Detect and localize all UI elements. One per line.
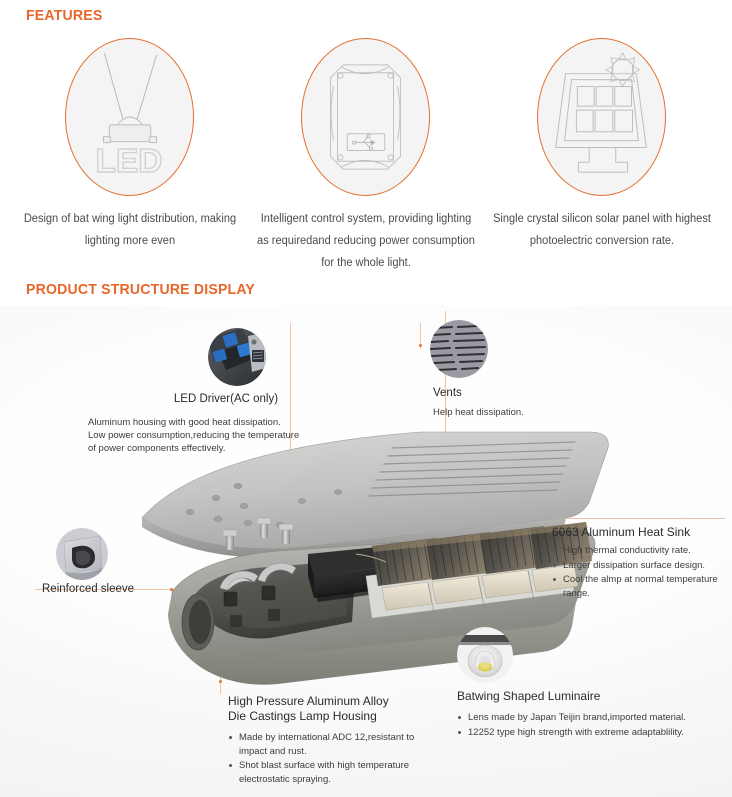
vents-photo (430, 320, 488, 378)
marker-dot-vents (419, 344, 422, 347)
vents-line-1: Help heat dissipation. (433, 406, 603, 419)
led-driver-line-2: Low power consumption,reducing the tempe… (88, 429, 303, 442)
heat-sink-bullet-2: Larger dissipation surface design. (552, 559, 727, 573)
controller-usb-icon (301, 38, 430, 196)
callout-heat-sink: 6063 Aluminum Heat Sink High thermal con… (552, 525, 727, 601)
led-driver-line-3: of power components effectively. (88, 442, 303, 455)
callout-bullets-lamp-housing: Made by international ADC 12,resistant t… (228, 731, 428, 786)
led-driver-line-1: Aluminum housing with good heat dissipat… (88, 416, 303, 429)
lamp-housing-bullet-1: Made by international ADC 12,resistant t… (228, 731, 428, 758)
product-structure-heading: PRODUCT STRUCTURE DISPLAY (26, 281, 255, 298)
luminaire-photo (457, 627, 513, 683)
heat-sink-bullet-3: Cool the almp at normal temperature rang… (552, 573, 727, 600)
led-bulb-icon: LED (65, 38, 194, 196)
heat-sink-bullet-1: High thermal conductivity rate. (552, 544, 727, 558)
features-row: LED Design of bat wing light distributio… (0, 36, 732, 266)
callout-lamp-housing: High Pressure Aluminum Alloy Die Casting… (228, 694, 428, 787)
exploded-streetlight-render (120, 426, 620, 726)
callout-title-heat-sink: 6063 Aluminum Heat Sink (552, 525, 727, 540)
callout-title-reinforced-sleeve: Reinforced sleeve (42, 582, 134, 597)
features-heading: FEATURES (26, 7, 102, 24)
callout-title-led-driver: LED Driver(AC only) (146, 392, 306, 407)
callout-title-lamp-housing-line1: High Pressure Aluminum Alloy (228, 694, 428, 709)
feature-caption-led: Design of bat wing light distribution, m… (19, 208, 242, 252)
callout-title-lamp-housing-line2: Die Castings Lamp Housing (228, 709, 428, 724)
feature-item-led: LED Design of bat wing light distributio… (8, 36, 252, 266)
callout-title-luminaire: Batwing Shaped Luminaire (457, 689, 600, 704)
luminaire-bullet-1: Lens made by Japan Teijin brand,imported… (457, 711, 702, 725)
svg-text:LED: LED (96, 143, 163, 180)
product-structure-panel: LED Driver(AC only) Aluminum housing wit… (0, 306, 732, 797)
feature-caption-controller: Intelligent control system, providing li… (255, 208, 478, 274)
lamp-housing-bullet-2: Shot blast surface with high temperature… (228, 759, 428, 786)
callout-title-vents: Vents (433, 386, 462, 401)
led-driver-photo (208, 328, 266, 386)
feature-item-solar: Single crystal silicon solar panel with … (480, 36, 724, 266)
luminaire-bullet-2: 12252 type high strength with extreme ad… (457, 726, 702, 740)
callout-bullets-luminaire: Lens made by Japan Teijin brand,imported… (457, 711, 702, 740)
feature-caption-solar: Single crystal silicon solar panel with … (491, 208, 714, 252)
solar-panel-sun-icon (537, 38, 666, 196)
feature-item-controller: Intelligent control system, providing li… (244, 36, 488, 266)
callout-body-vents: Help heat dissipation. (433, 406, 603, 419)
reinforced-sleeve-photo (56, 528, 108, 580)
callout-body-led-driver: Aluminum housing with good heat dissipat… (88, 416, 303, 455)
callout-bullets-heat-sink: High thermal conductivity rate. Larger d… (552, 544, 727, 600)
